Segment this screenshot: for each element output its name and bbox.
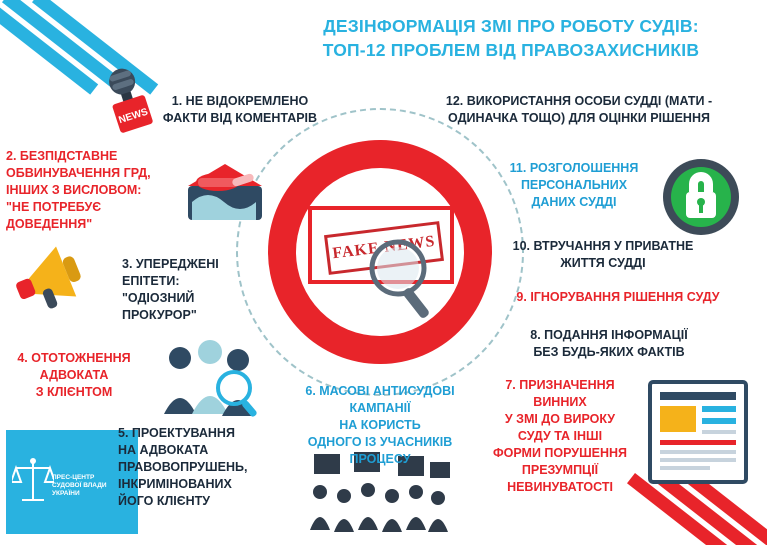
- item-label-11: 11. РОЗГОЛОШЕННЯ ПЕРСОНАЛЬНИХ ДАНИХ СУДД…: [494, 160, 654, 211]
- press-center-label: ПРЕС-ЦЕНТР СУДОВОЇ ВЛАДИ УКРАЇНИ: [52, 474, 107, 498]
- central-stop-sign: FAKE NEWS: [268, 140, 492, 364]
- padlock-icon: [660, 156, 742, 238]
- top-left-stripes-decoration: [0, 0, 116, 74]
- infographic-canvas: ДЕЗІНФОРМАЦІЯ ЗМІ ПРО РОБОТУ СУДІВ: ТОП-…: [0, 0, 767, 545]
- people-group-icon: [160, 336, 264, 420]
- item-label-1: 1. НЕ ВІДОКРЕМЛЕНО ФАКТИ ВІД КОМЕНТАРІВ: [135, 93, 345, 127]
- item-label-7: 7. ПРИЗНАЧЕННЯ ВИННИХ У ЗМІ ДО ВИРОКУ СУ…: [480, 377, 640, 496]
- item-label-6: 6. МАСОВІ АНТИСУДОВІ КАМПАНІЇ НА КОРИСТЬ…: [282, 383, 478, 468]
- page-title: ДЕЗІНФОРМАЦІЯ ЗМІ ПРО РОБОТУ СУДІВ: ТОП-…: [262, 14, 760, 62]
- item-label-12: 12. ВИКОРИСТАННЯ ОСОБИ СУДДІ (МАТИ - ОДИ…: [404, 93, 754, 127]
- magnifier-icon: [364, 236, 444, 327]
- item-label-2: 2. БЕЗПІДСТАВНЕ ОБВИНУВАЧЕННЯ ГРД, ІНШИХ…: [6, 148, 178, 233]
- item-label-9: 9. ІГНОРУВАННЯ РІШЕННЯ СУДУ: [496, 289, 740, 306]
- item-label-3: 3. УПЕРЕДЖЕНІ ЕПІТЕТИ: "ОДІОЗНИЙ ПРОКУРО…: [122, 256, 238, 324]
- title-line-1: ДЕЗІНФОРМАЦІЯ ЗМІ ПРО РОБОТУ СУДІВ:: [262, 14, 760, 38]
- handshake-money-icon: [182, 152, 268, 226]
- item-label-4: 4. ОТОТОЖНЕННЯ АДВОКАТА З КЛІЄНТОМ: [4, 350, 144, 401]
- item-label-5: 5. ПРОЕКТУВАННЯ НА АДВОКАТА ПРАВОВОПРУШЕ…: [118, 425, 270, 510]
- title-line-2: ТОП-12 ПРОБЛЕМ ВІД ПРАВОЗАХИСНИКІВ: [262, 38, 760, 62]
- megaphone-icon: [10, 240, 106, 316]
- newspaper-icon: [646, 378, 750, 488]
- item-label-10: 10. ВТРУЧАННЯ У ПРИВАТНЕ ЖИТТЯ СУДДІ: [492, 238, 714, 272]
- item-label-8: 8. ПОДАННЯ ІНФОРМАЦІЇ БЕЗ БУДЬ-ЯКИХ ФАКТ…: [500, 327, 718, 361]
